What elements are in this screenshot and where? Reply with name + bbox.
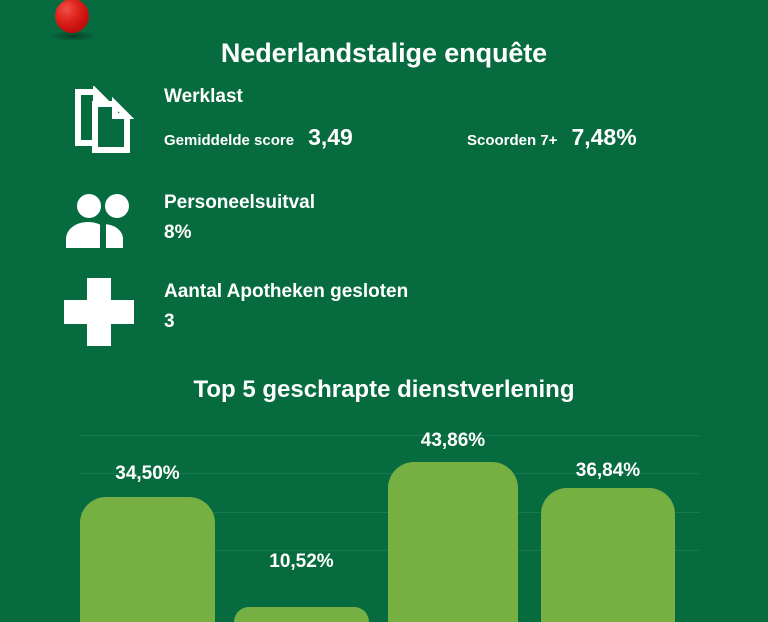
metric-gemiddelde-score: Gemiddelde score 3,49 [164,124,353,151]
documents-icon [64,86,136,159]
metric-caption-scoorden-7plus: Scoorden 7+ [467,132,557,149]
metric-value-gemiddelde-score: 3,49 [308,124,353,151]
stat-row-apotheken-gesloten: Aantal Apotheken gesloten 3 [0,281,768,347]
stat-value-personeelsuitval: 8% [164,222,315,244]
werklast-metrics: Gemiddelde score 3,49 Scoorden 7+ 7,48% [164,124,724,154]
stat-body-personeelsuitval: Personeelsuitval 8% [164,192,315,244]
stat-label-personeelsuitval: Personeelsuitval [164,192,315,214]
stat-row-personeelsuitval: Personeelsuitval 8% [0,192,768,256]
page-title: Nederlandstalige enquête [0,38,768,69]
stat-row-werklast: Werklast Gemiddelde score 3,49 Scoorden … [0,86,768,162]
stat-value-apotheken-gesloten: 3 [164,311,408,333]
bar-label-2: 10,52% [234,551,369,573]
metric-scoorden-7plus: Scoorden 7+ 7,48% [467,124,637,151]
chart-title: Top 5 geschrapte dienstverlening [0,376,768,404]
metric-caption-gemiddelde-score: Gemiddelde score [164,132,294,149]
bar-4 [541,488,675,622]
bar-3 [388,462,518,622]
metric-value-scoorden-7plus: 7,48% [571,124,636,151]
people-icon [66,192,140,255]
plus-cross-icon [64,278,134,351]
stat-body-werklast: Werklast [164,86,243,108]
bauble-ball [55,0,89,33]
stat-body-apotheken-gesloten: Aantal Apotheken gesloten 3 [164,281,408,333]
stat-label-werklast: Werklast [164,86,243,108]
bar-chart: 34,50% 10,52% 43,86% 36,84% [0,420,768,582]
stat-label-apotheken-gesloten: Aantal Apotheken gesloten [164,281,408,303]
bar-label-3: 43,86% [388,430,518,452]
infographic-canvas: Nederlandstalige enquête Werklast Gemidd… [0,0,768,582]
bar-label-4: 36,84% [541,460,675,482]
bar-2 [234,607,369,622]
bar-label-1: 34,50% [80,463,215,485]
bar-1 [80,497,215,622]
